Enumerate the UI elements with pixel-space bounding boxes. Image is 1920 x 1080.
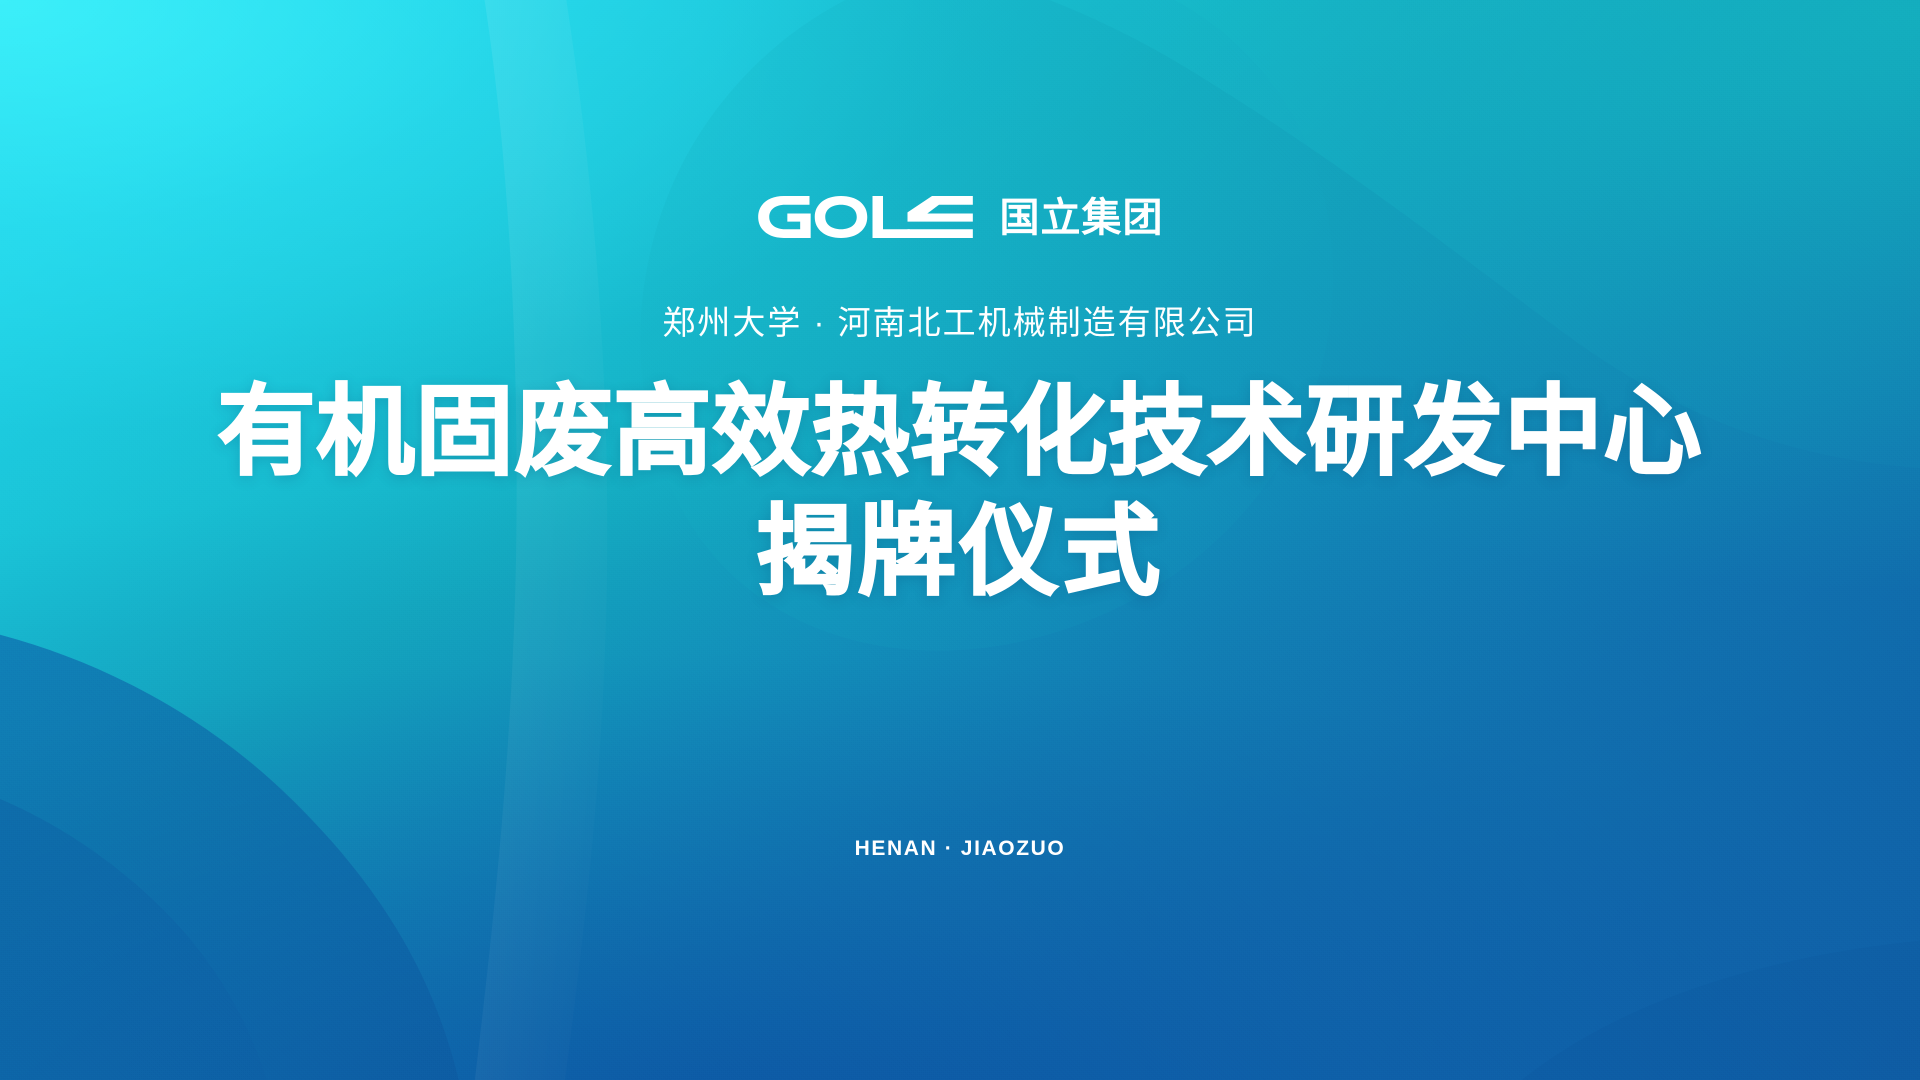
headline-line-1: 有机固废高效热转化技术研发中心 [0,372,1920,492]
headline-line-2: 揭牌仪式 [0,492,1920,612]
location-label: HENAN · JIAOZUO [0,838,1920,859]
brand-name-cn: 国立集团 [1000,198,1164,238]
presentation-slide: 国立集团 郑州大学 · 河南北工机械制造有限公司 有机固废高效热转化技术研发中心… [0,0,1920,1080]
partners-line: 郑州大学 · 河南北工机械制造有限公司 [0,303,1920,343]
slide-content: 国立集团 郑州大学 · 河南北工机械制造有限公司 有机固废高效热转化技术研发中心… [0,0,1920,1080]
brand-lockup: 国立集团 [0,196,1920,238]
gole-wordmark-icon [757,196,974,238]
headline: 有机固废高效热转化技术研发中心 揭牌仪式 [0,372,1920,611]
